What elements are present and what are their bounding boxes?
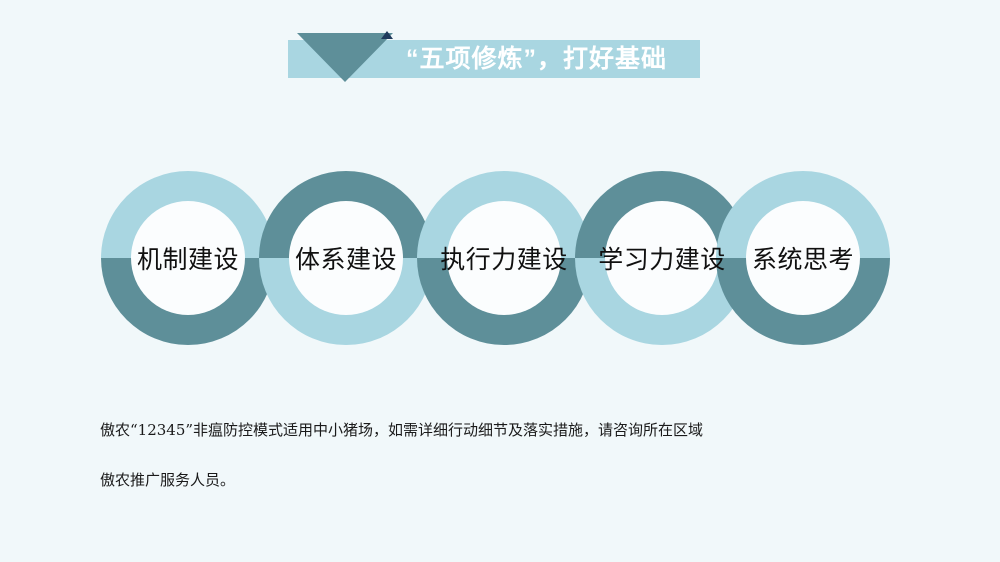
slide-canvas: “五项修炼”，打好基础 机制建设 体系建设 [0, 0, 1000, 562]
ring-label-2: 执行力建设 [417, 171, 591, 345]
ring-label-1: 体系建设 [259, 171, 433, 345]
footnote-block: 傲农“12345”非瘟防控模式适用中小猪场，如需详细行动细节及落实措施，请咨询所… [100, 405, 900, 505]
footnote-line-1: 傲农“12345”非瘟防控模式适用中小猪场，如需详细行动细节及落实措施，请咨询所… [100, 405, 900, 455]
footnote-line-2: 傲农推广服务人员。 [100, 455, 900, 505]
ring-label-0: 机制建设 [101, 171, 275, 345]
ring-label-4: 系统思考 [716, 171, 890, 345]
